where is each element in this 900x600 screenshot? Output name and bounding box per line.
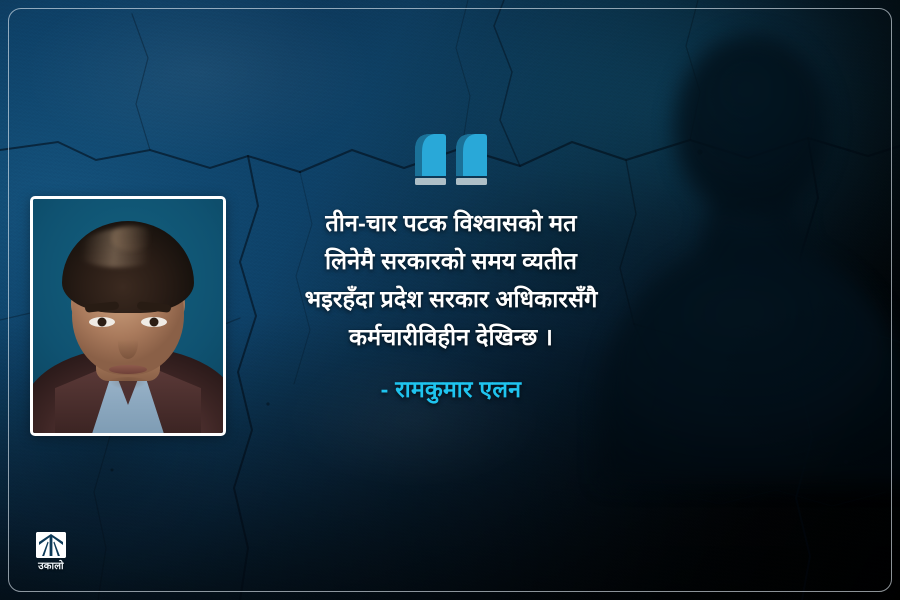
portrait-photo (30, 196, 226, 436)
quote-text: तीन-चार पटक विश्वासको मत लिनेमै सरकारको … (236, 204, 666, 356)
quote-card: तीन-चार पटक विश्वासको मत लिनेमै सरकारको … (0, 0, 900, 600)
brand-name: उकालो (28, 561, 74, 572)
quote-attribution: - रामकुमार एलन (236, 372, 666, 404)
portrait-eye-right (141, 317, 167, 327)
quote-line: तीन-चार पटक विश्वासको मत (236, 204, 666, 242)
portrait-nose (118, 327, 138, 359)
ukaalo-peak-logo-icon (36, 532, 66, 558)
portrait-chin-shadow (101, 377, 155, 397)
portrait-eye-left (89, 317, 115, 327)
quote-block: तीन-चार पटक विश्वासको मत लिनेमै सरकारको … (236, 132, 666, 404)
portrait-hair-part (111, 225, 151, 251)
portrait-mouth (109, 365, 147, 374)
quote-line: कर्मचारीविहीन देखिन्छ । (236, 318, 666, 356)
double-left-quotation-mark-icon (412, 132, 490, 194)
brand-logo[interactable]: उकालो (28, 532, 74, 572)
quote-line: भइरहँदा प्रदेश सरकार अधिकारसँगै (236, 280, 666, 318)
quote-line: लिनेमै सरकारको समय व्यतीत (236, 242, 666, 280)
